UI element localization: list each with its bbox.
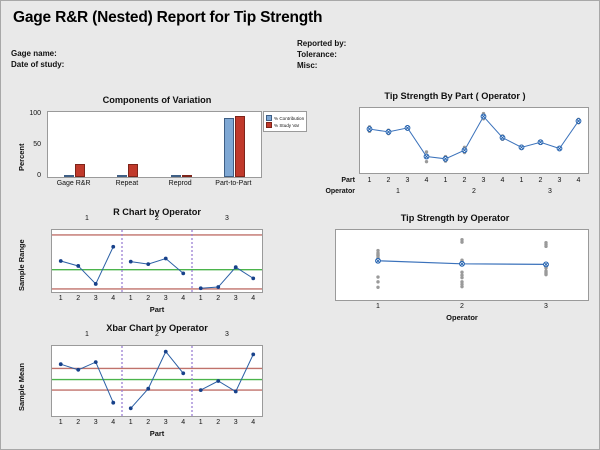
bypart-part-tick-11: 4 <box>572 177 586 184</box>
bypart-part-tick-0: 1 <box>363 177 377 184</box>
tip-strength-by-part-panel: Tip Strength By Part ( Operator ) Part O… <box>313 91 597 203</box>
tip-strength-by-operator-plot <box>335 229 589 301</box>
legend-label-study-var: % Study Var <box>274 123 299 128</box>
bypart-part-tick-6: 3 <box>477 177 491 184</box>
legend-label-contribution: % Contribution <box>274 116 304 121</box>
xbar-chart-xtick-5: 2 <box>141 419 155 426</box>
header-left-block: Gage name: Date of study: <box>11 48 64 70</box>
r-chart-stage-2: 2 <box>150 215 164 222</box>
xbar-chart-stage-2: 2 <box>150 331 164 338</box>
bar-reprod-contribution <box>171 175 181 177</box>
bar-repeat-study-var <box>128 164 138 177</box>
page-title: Gage R&R (Nested) Report for Tip Strengt… <box>13 9 322 27</box>
xbar-chart-stage-3: 3 <box>220 331 234 338</box>
r-chart-stage-1: 1 <box>80 215 94 222</box>
xbar-chart-xlabel: Part <box>51 429 263 438</box>
tip-strength-by-operator-title: Tip Strength by Operator <box>313 213 597 223</box>
bypart-part-tick-5: 2 <box>458 177 472 184</box>
r-chart-xtick-10: 3 <box>229 295 243 302</box>
date-of-study-label: Date of study: <box>11 59 64 70</box>
xbar-chart-ylabel: Sample Mean <box>17 363 26 411</box>
tip-strength-by-operator-panel: Tip Strength by Operator 123 Operator <box>313 213 597 325</box>
tip-strength-by-operator-xlabel: Operator <box>335 313 589 322</box>
xbar-chart-panel: Xbar Chart by Operator Sample Mean 123 1… <box>7 323 307 441</box>
bypart-part-tick-9: 2 <box>534 177 548 184</box>
legend-item-contribution: % Contribution <box>266 115 304 121</box>
xbar-chart-xtick-7: 4 <box>176 419 190 426</box>
xbar-chart-xtick-6: 3 <box>159 419 173 426</box>
r-chart-xtick-1: 2 <box>71 295 85 302</box>
bypart-operator-tick-2: 2 <box>467 188 481 195</box>
cov-ytick-50: 50 <box>23 141 41 148</box>
tip-strength-by-part-title: Tip Strength By Part ( Operator ) <box>313 91 597 101</box>
bypart-part-tick-10: 3 <box>553 177 567 184</box>
byop-xtick-2: 2 <box>455 303 469 310</box>
legend-swatch-contribution <box>266 115 272 121</box>
r-chart-xtick-8: 1 <box>194 295 208 302</box>
components-of-variation-plot <box>47 111 262 178</box>
xbar-chart-xtick-8: 1 <box>194 419 208 426</box>
xbar-chart-xtick-11: 4 <box>246 419 260 426</box>
r-chart-xtick-11: 4 <box>246 295 260 302</box>
bar-part-to-part-study-var <box>235 116 245 177</box>
r-chart-xtick-9: 2 <box>211 295 225 302</box>
r-chart-xtick-0: 1 <box>54 295 68 302</box>
cov-xtick-2: Reprod <box>155 180 205 187</box>
bypart-operator-tick-1: 1 <box>391 188 405 195</box>
header-right-block: Reported by: Tolerance: Misc: <box>297 38 346 71</box>
bypart-operator-tick-3: 3 <box>543 188 557 195</box>
bar-repeat-contribution <box>117 175 127 177</box>
cov-ytick-100: 100 <box>23 110 41 117</box>
xbar-chart-xtick-9: 2 <box>211 419 225 426</box>
byop-xtick-3: 3 <box>539 303 553 310</box>
xbar-chart-stage-1: 1 <box>80 331 94 338</box>
gage-name-label: Gage name: <box>11 48 64 59</box>
tip-strength-by-part-plot <box>359 107 589 174</box>
bypart-part-tick-8: 1 <box>515 177 529 184</box>
cov-xtick-1: Repeat <box>102 180 152 187</box>
xbar-chart-xtick-10: 3 <box>229 419 243 426</box>
bar-gage-r-r-contribution <box>64 175 74 177</box>
xbar-chart-xtick-4: 1 <box>124 419 138 426</box>
bypart-part-tick-3: 4 <box>420 177 434 184</box>
r-chart-xtick-3: 4 <box>106 295 120 302</box>
row-label-part: Part <box>313 177 355 184</box>
r-chart-xtick-6: 3 <box>159 295 173 302</box>
r-chart-stage-3: 3 <box>220 215 234 222</box>
cov-xtick-3: Part-to-Part <box>208 180 258 187</box>
row-label-operator: Operator <box>313 188 355 195</box>
components-of-variation-title: Components of Variation <box>7 95 307 105</box>
xbar-chart-xtick-1: 2 <box>71 419 85 426</box>
bar-reprod-study-var <box>182 175 192 177</box>
r-chart-ylabel: Sample Range <box>17 239 26 291</box>
bar-part-to-part-contribution <box>224 118 234 177</box>
components-of-variation-legend: % Contribution % Study Var <box>263 111 307 132</box>
bar-gage-r-r-study-var <box>75 164 85 177</box>
legend-item-study-var: % Study Var <box>266 122 304 128</box>
xbar-chart-plot <box>51 345 263 417</box>
report-page: Gage R&R (Nested) Report for Tip Strengt… <box>1 1 599 449</box>
bypart-part-tick-4: 1 <box>439 177 453 184</box>
cov-ytick-0: 0 <box>23 172 41 179</box>
byop-xtick-1: 1 <box>371 303 385 310</box>
r-chart-xlabel: Part <box>51 305 263 314</box>
xbar-chart-xtick-0: 1 <box>54 419 68 426</box>
xbar-chart-xtick-2: 3 <box>89 419 103 426</box>
legend-swatch-study-var <box>266 122 272 128</box>
reported-by-label: Reported by: <box>297 38 346 49</box>
r-chart-plot <box>51 229 263 293</box>
bypart-part-tick-2: 3 <box>401 177 415 184</box>
tolerance-label: Tolerance: <box>297 49 346 60</box>
bypart-part-tick-1: 2 <box>382 177 396 184</box>
xbar-chart-xtick-3: 4 <box>106 419 120 426</box>
r-chart-xtick-5: 2 <box>141 295 155 302</box>
bypart-part-tick-7: 4 <box>496 177 510 184</box>
r-chart-xtick-4: 1 <box>124 295 138 302</box>
misc-label: Misc: <box>297 60 346 71</box>
r-chart-panel: R Chart by Operator Sample Range 123 123… <box>7 207 307 317</box>
r-chart-xtick-7: 4 <box>176 295 190 302</box>
cov-xtick-0: Gage R&R <box>49 180 99 187</box>
r-chart-xtick-2: 3 <box>89 295 103 302</box>
components-of-variation-panel: Components of Variation Percent 050100 G… <box>7 95 307 195</box>
